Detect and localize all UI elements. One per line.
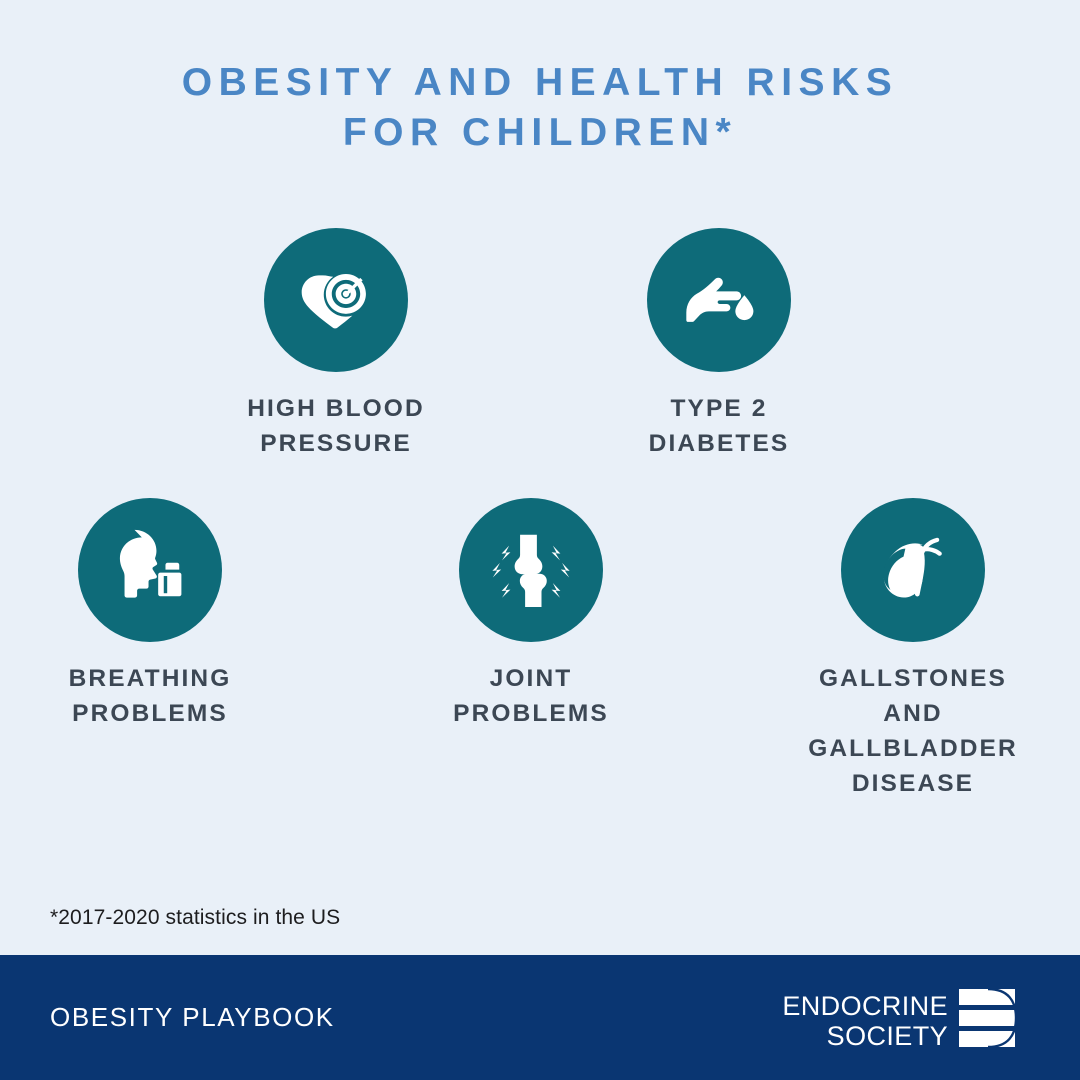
risk-item-high-blood-pressure: HIGH BLOOD PRESSURE xyxy=(206,228,466,461)
endocrine-society-logo: ENDOCRINE SOCIETY xyxy=(782,987,1018,1054)
logo-word-line-1: ENDOCRINE xyxy=(782,991,948,1021)
risk-item-type-2-diabetes: TYPE 2 DIABETES xyxy=(589,228,849,461)
risk-item-gallstones-and-gallbladder-disease: GALLSTONES AND GALLBLADDER DISEASE xyxy=(783,498,1043,801)
title-line-1: OBESITY AND HEALTH RISKS xyxy=(0,58,1080,108)
risk-label: TYPE 2 DIABETES xyxy=(589,391,849,461)
icon-circle xyxy=(459,498,603,642)
icon-circle xyxy=(841,498,985,642)
icon-circle xyxy=(647,228,791,372)
risk-label: BREATHING PROBLEMS xyxy=(20,661,280,731)
head-inhaler-icon xyxy=(107,527,193,613)
risk-row-1: HIGH BLOOD PRESSURE TYPE 2 DIABETES xyxy=(0,228,1080,498)
knee-joint-pain-icon xyxy=(489,528,573,612)
risk-label: HIGH BLOOD PRESSURE xyxy=(206,391,466,461)
risk-label: JOINT PROBLEMS xyxy=(401,661,661,731)
risk-item-joint-problems: JOINT PROBLEMS xyxy=(401,498,661,731)
logo-word-line-2: SOCIETY xyxy=(782,1021,948,1051)
footnote: *2017-2020 statistics in the US xyxy=(50,906,340,930)
page-title: OBESITY AND HEALTH RISKS FOR CHILDREN* xyxy=(0,58,1080,158)
footer-bar: OBESITY PLAYBOOK ENDOCRINE SOCIETY xyxy=(0,955,1080,1080)
logo-wordmark: ENDOCRINE SOCIETY xyxy=(782,991,948,1051)
hand-blood-drop-icon xyxy=(676,257,762,343)
infographic-poster: OBESITY AND HEALTH RISKS FOR CHILDREN* xyxy=(0,0,1080,1080)
risk-item-breathing-problems: BREATHING PROBLEMS xyxy=(20,498,280,731)
gallbladder-icon xyxy=(870,527,956,613)
icon-circle xyxy=(78,498,222,642)
heart-gauge-icon xyxy=(292,256,380,344)
endocrine-society-globe-icon xyxy=(958,987,1018,1054)
risk-grid: HIGH BLOOD PRESSURE TYPE 2 DIABETES xyxy=(0,228,1080,798)
footer-title: OBESITY PLAYBOOK xyxy=(50,1002,335,1033)
risk-label: GALLSTONES AND GALLBLADDER DISEASE xyxy=(783,661,1043,801)
title-line-2: FOR CHILDREN* xyxy=(0,108,1080,158)
risk-row-2: BREATHING PROBLEMS xyxy=(0,498,1080,798)
icon-circle xyxy=(264,228,408,372)
